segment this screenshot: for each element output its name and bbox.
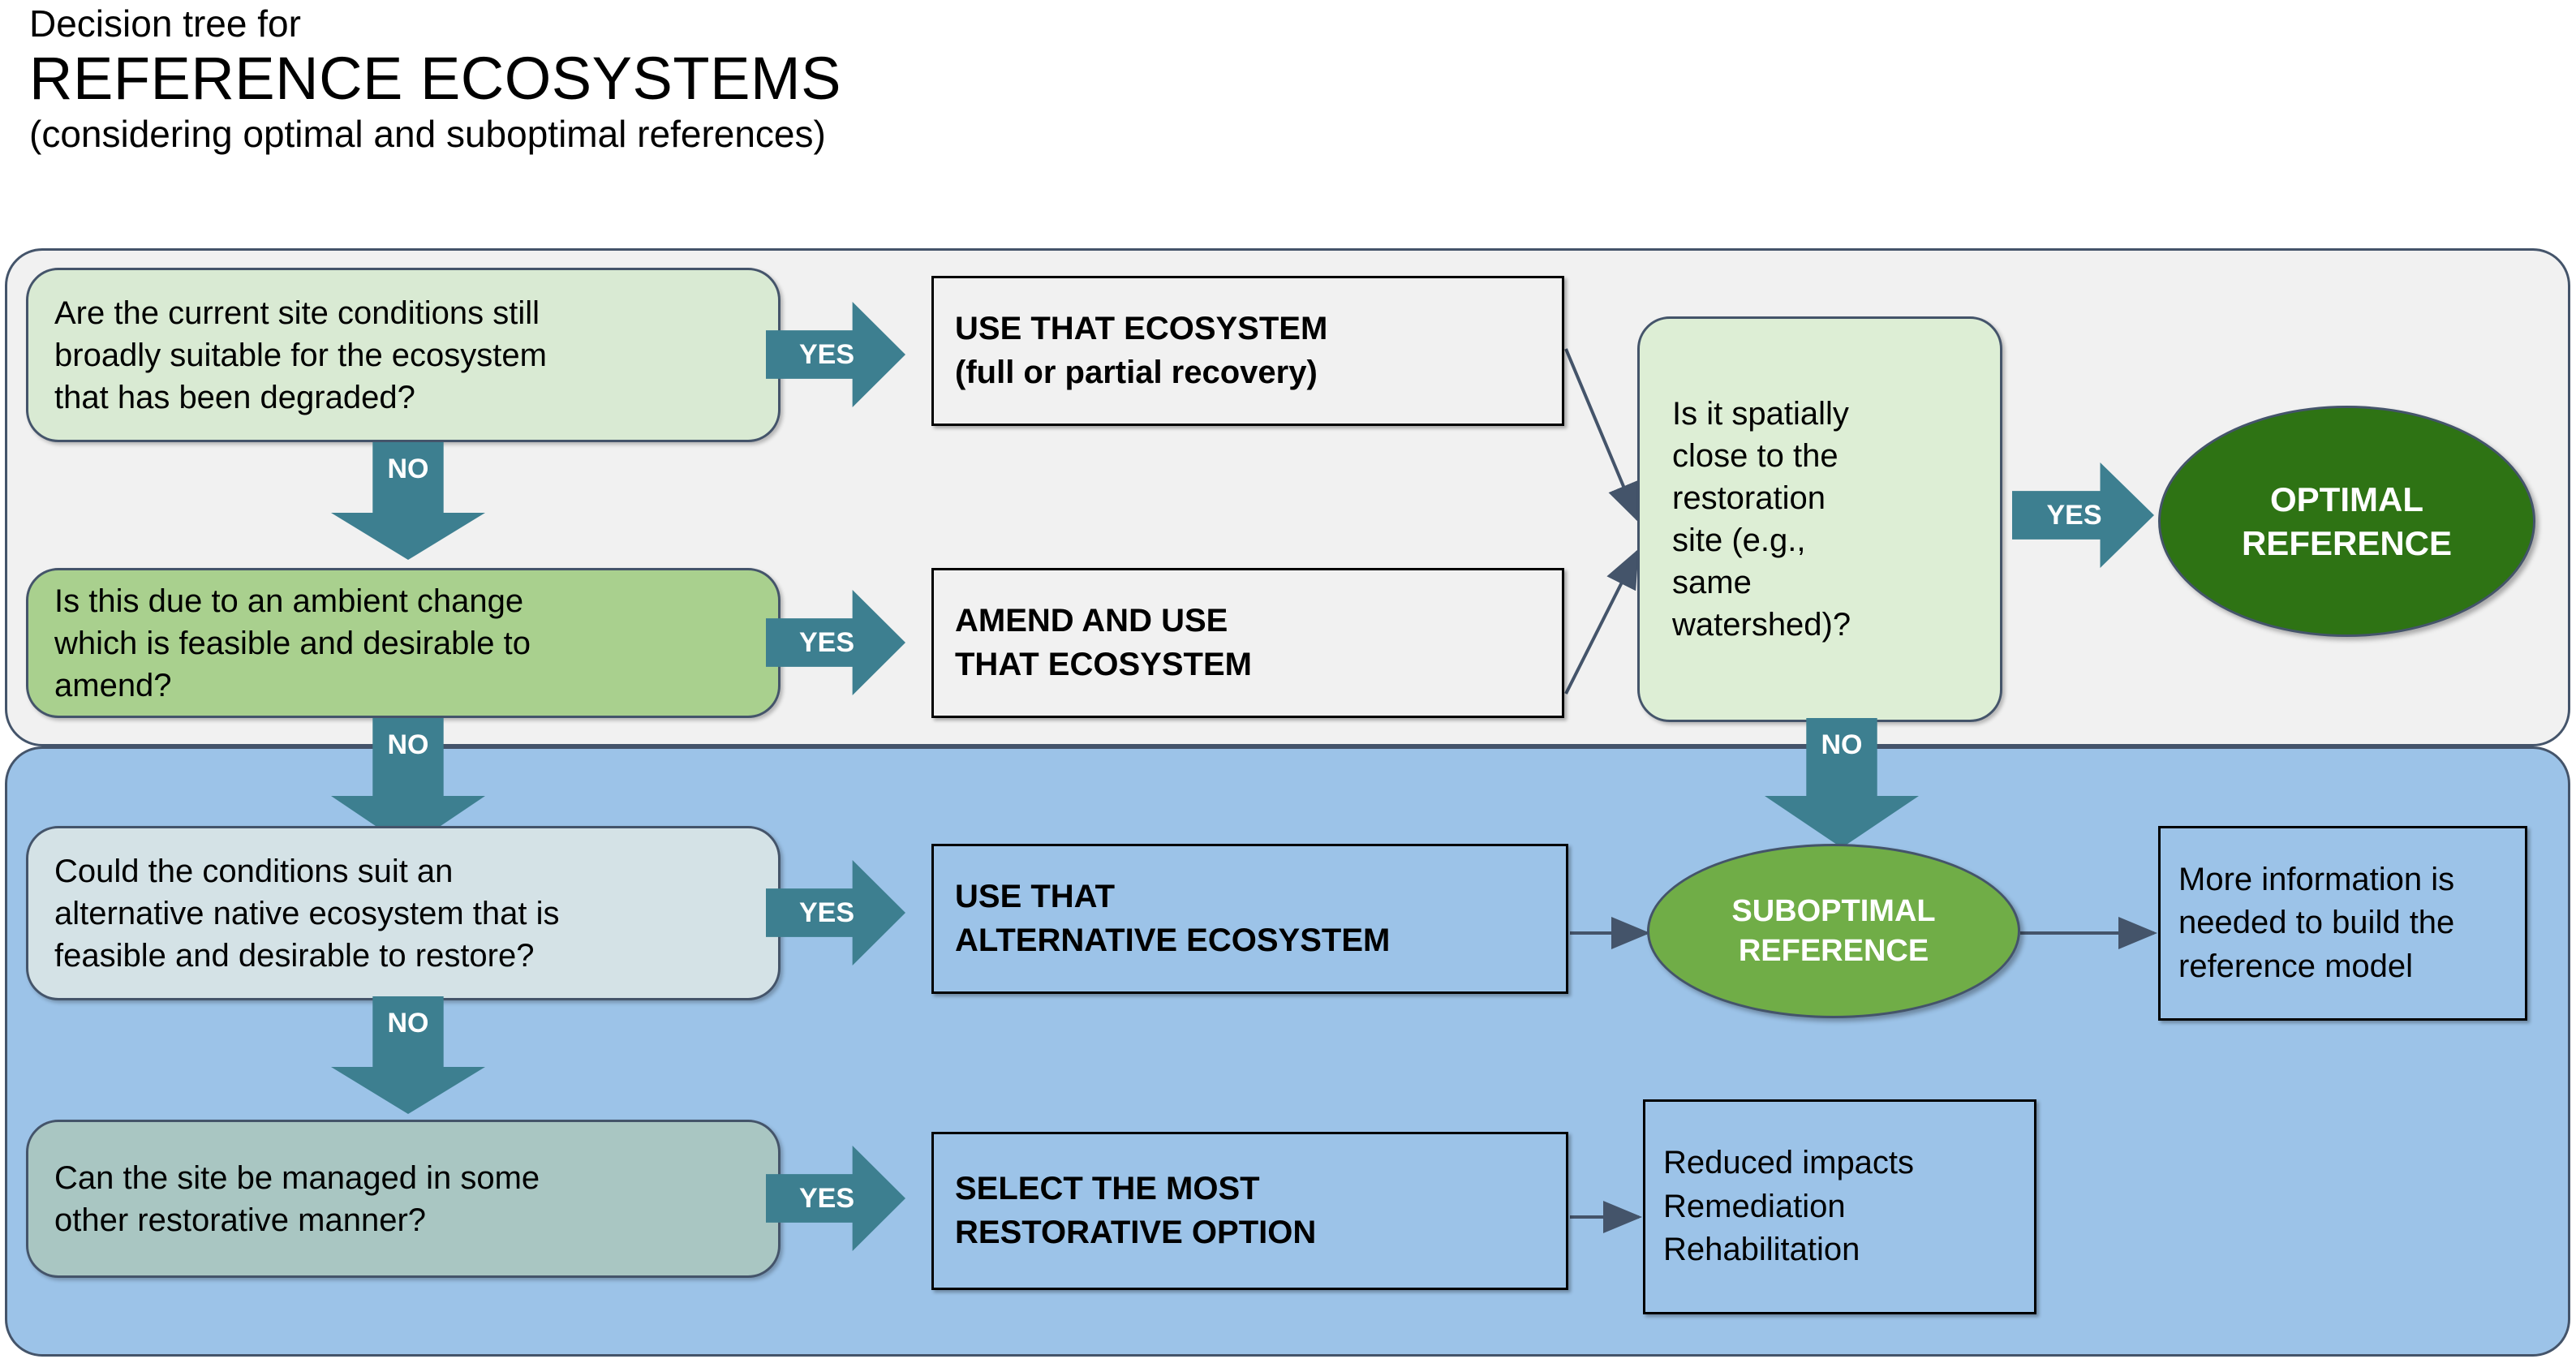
suboptimal-reference-ellipse[interactable]: SUBOPTIMAL REFERENCE bbox=[1647, 844, 2020, 1018]
no-label-2: NO bbox=[388, 729, 429, 761]
spatial-line-4: site (e.g., bbox=[1672, 519, 1851, 561]
action1-line-1: USE THAT ECOSYSTEM bbox=[955, 307, 1327, 351]
q3-line-3: feasible and desirable to restore? bbox=[54, 935, 560, 977]
q2-line-1: Is this due to an ambient change bbox=[54, 580, 531, 622]
title-subtitle: (considering optimal and suboptimal refe… bbox=[29, 112, 1327, 157]
no-label-4: NO bbox=[388, 1008, 429, 1039]
action2-line-1: AMEND AND USE bbox=[955, 600, 1252, 643]
q2-line-2: which is feasible and desirable to bbox=[54, 622, 531, 664]
spatial-line-5: same bbox=[1672, 561, 1851, 604]
q3-line-2: alternative native ecosystem that is bbox=[54, 892, 560, 935]
q1-line-2: broadly suitable for the ecosystem bbox=[54, 334, 547, 376]
more-info-line-1: More information is bbox=[2178, 858, 2454, 902]
suboptimal-ref-line-1: SUBOPTIMAL bbox=[1731, 892, 1935, 931]
q1-line-1: Are the current site conditions still bbox=[54, 292, 547, 334]
spatial-line-3: restoration bbox=[1672, 477, 1851, 519]
q4-line-1: Can the site be managed in some bbox=[54, 1157, 540, 1199]
q3-line-1: Could the conditions suit an bbox=[54, 850, 560, 892]
optimal-ref-line-2: REFERENCE bbox=[2242, 522, 2452, 566]
more-info-line-3: reference model bbox=[2178, 945, 2454, 989]
q4-line-2: other restorative manner? bbox=[54, 1199, 540, 1241]
page-title: REFERENCE ECOSYSTEMS bbox=[29, 45, 1327, 113]
q2-line-3: amend? bbox=[54, 664, 531, 707]
question-box-spatially-close[interactable]: Is it spatially close to the restoration… bbox=[1637, 316, 2002, 722]
yes-label-1: YES bbox=[799, 339, 854, 371]
action-box-select-most-restorative[interactable]: SELECT THE MOST RESTORATIVE OPTION bbox=[931, 1132, 1568, 1290]
yes-label-4: YES bbox=[799, 897, 854, 929]
outcome-line-1: Reduced impacts bbox=[1663, 1142, 1914, 1185]
question-box-ambient-change[interactable]: Is this due to an ambient change which i… bbox=[26, 568, 781, 718]
action3-line-1: USE THAT bbox=[955, 875, 1390, 919]
yes-label-3: YES bbox=[2046, 500, 2101, 531]
optimal-reference-ellipse[interactable]: OPTIMAL REFERENCE bbox=[2158, 406, 2535, 637]
spatial-line-1: Is it spatially bbox=[1672, 393, 1851, 435]
more-info-line-2: needed to build the bbox=[2178, 901, 2454, 945]
no-label-1: NO bbox=[388, 454, 429, 485]
action-box-use-alternative-ecosystem[interactable]: USE THAT ALTERNATIVE ECOSYSTEM bbox=[931, 844, 1568, 994]
title-block: Decision tree for REFERENCE ECOSYSTEMS (… bbox=[29, 3, 1327, 157]
action1-line-2: (full or partial recovery) bbox=[955, 351, 1327, 395]
yes-label-2: YES bbox=[799, 627, 854, 659]
no-label-3: NO bbox=[1821, 729, 1863, 761]
question-box-alternative-ecosystem[interactable]: Could the conditions suit an alternative… bbox=[26, 826, 781, 1000]
info-box-more-information[interactable]: More information is needed to build the … bbox=[2158, 826, 2527, 1021]
optimal-ref-line-1: OPTIMAL bbox=[2242, 478, 2452, 522]
spatial-line-2: close to the bbox=[1672, 435, 1851, 477]
question-box-current-conditions[interactable]: Are the current site conditions still br… bbox=[26, 268, 781, 442]
q1-line-3: that has been degraded? bbox=[54, 376, 547, 419]
suboptimal-ref-line-2: REFERENCE bbox=[1731, 931, 1935, 971]
yes-label-5: YES bbox=[799, 1183, 854, 1215]
outcomes-box[interactable]: Reduced impacts Remediation Rehabilitati… bbox=[1643, 1099, 2036, 1314]
action4-line-2: RESTORATIVE OPTION bbox=[955, 1211, 1316, 1255]
action-box-use-that-ecosystem[interactable]: USE THAT ECOSYSTEM (full or partial reco… bbox=[931, 276, 1564, 426]
action4-line-1: SELECT THE MOST bbox=[955, 1168, 1316, 1211]
question-box-managed-restoratively[interactable]: Can the site be managed in some other re… bbox=[26, 1120, 781, 1278]
outcome-line-3: Rehabilitation bbox=[1663, 1228, 1914, 1272]
title-prefix: Decision tree for bbox=[29, 3, 1327, 45]
spatial-line-6: watershed)? bbox=[1672, 604, 1851, 646]
action-box-amend-and-use[interactable]: AMEND AND USE THAT ECOSYSTEM bbox=[931, 568, 1564, 718]
outcome-line-2: Remediation bbox=[1663, 1185, 1914, 1229]
action3-line-2: ALTERNATIVE ECOSYSTEM bbox=[955, 919, 1390, 963]
action2-line-2: THAT ECOSYSTEM bbox=[955, 643, 1252, 687]
